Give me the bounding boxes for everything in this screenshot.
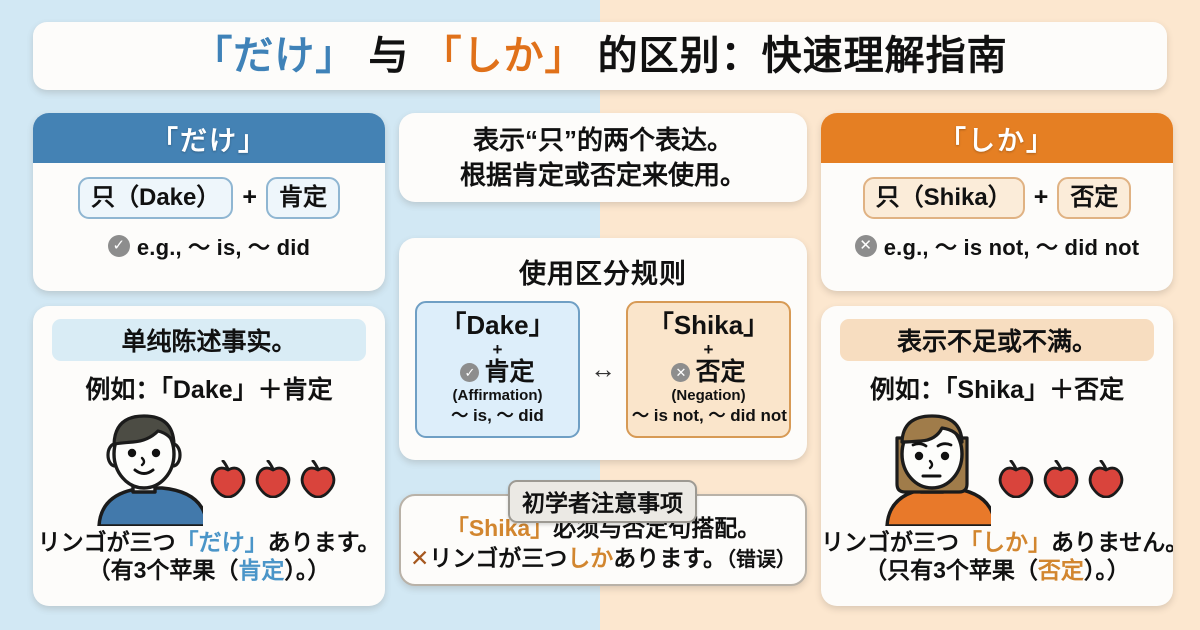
shika-example-heading: 例如：「Shika」＋否定 (821, 370, 1173, 406)
title-card: 「だけ」 与 「しか」 的区别：快速理解指南 (33, 22, 1167, 90)
apple-icon (1042, 460, 1080, 498)
rule-dake-word: 「Dake」 (421, 311, 574, 340)
rule-box-dake: 「Dake」 + ✓ 肯定 (Affirmation) 〜 is, 〜 did (415, 301, 580, 438)
shika-caption2-pre: （只有3个苹果（ (864, 557, 1038, 583)
boy-avatar-icon (85, 408, 203, 531)
apple-icon (254, 460, 292, 498)
title-shika: 「しか」 (422, 34, 586, 78)
shika-formula-row: 只（Shika） + 否定 (821, 177, 1173, 219)
shika-caption-jp: リンゴが三つ「しか」ありません。 (821, 529, 1173, 556)
dake-caption-post: あります。 (268, 529, 381, 555)
dake-caption2-post: ）。） (284, 557, 330, 583)
rule-dake-forms: 〜 is, 〜 did (421, 405, 574, 426)
cross-badge-icon: ✕ (671, 363, 690, 382)
dake-caption2-pre: （有3个苹果（ (88, 557, 239, 583)
dake-example-heading: 例如：「Dake」＋肯定 (33, 370, 385, 406)
shika-example-forms-row: ✕ e.g., 〜 is not, 〜 did not (821, 230, 1173, 262)
shika-header: 「しか」 (821, 113, 1173, 163)
rule-dake-polarity-en: (Affirmation) (421, 387, 574, 406)
dake-caption2-highlight: 肯定 (238, 557, 284, 583)
dake-word-pill: 只（Dake） (78, 177, 233, 219)
dake-caption-highlight: 「だけ」 (176, 529, 268, 555)
shika-caption-pre: リンゴが三つ (821, 529, 959, 555)
intro-card: 表示“只”的两个表达。 根据肯定或否定来使用。 (399, 113, 807, 202)
rule-title: 使用区分规则 (399, 252, 807, 291)
shika-polarity-pill: 否定 (1057, 177, 1131, 219)
rule-shika-polarity-en: (Negation) (632, 387, 785, 406)
dake-example-forms: e.g., 〜 is, 〜 did (137, 230, 310, 262)
dake-caption-pre: リンゴが三つ (38, 529, 176, 555)
apple-group-three (997, 460, 1125, 498)
shika-caption-zh: （只有3个苹果（否定）。） (821, 557, 1173, 584)
notice-line-2-post: あります。 (613, 545, 726, 571)
rule-shika-word: 「Shika」 (632, 311, 785, 340)
dake-header: 「だけ」 (33, 113, 385, 163)
notice-line-2: ✕リンゴが三つしかあります。（错误） (401, 544, 805, 574)
shika-usage-chip: 表示不足或不满。 (840, 319, 1154, 361)
girl-avatar-icon (873, 408, 991, 531)
bidirectional-arrow-icon: ↔ (590, 354, 616, 385)
title-dake: 「だけ」 (192, 34, 356, 78)
infographic-root: 「だけ」 与 「しか」 的区别：快速理解指南 「だけ」 只（Dake） + 肯定… (0, 0, 1200, 630)
title-conjunction: 与 (356, 34, 421, 78)
rule-card: 使用区分规则 「Dake」 + ✓ 肯定 (Affirmation) 〜 is,… (399, 238, 807, 460)
apple-icon (997, 460, 1035, 498)
rule-dake-polarity-row: ✓ 肯定 (421, 359, 574, 387)
dake-example-forms-row: ✓ e.g., 〜 is, 〜 did (33, 230, 385, 262)
shika-caption2-post: ）。） (1084, 557, 1130, 583)
rule-comparison: 「Dake」 + ✓ 肯定 (Affirmation) 〜 is, 〜 did … (399, 301, 807, 438)
check-badge-icon: ✓ (108, 235, 130, 257)
shika-plus-sign: + (1034, 183, 1049, 212)
shika-example-forms: e.g., 〜 is not, 〜 did not (884, 230, 1140, 262)
apple-group-three (209, 460, 337, 498)
shika-example-card: 表示不足或不满。 例如：「Shika」＋否定 (821, 306, 1173, 606)
rule-shika-forms: 〜 is not, 〜 did not (632, 405, 785, 426)
dake-caption-jp: リンゴが三つ「だけ」あります。 (33, 529, 385, 556)
beginner-notice-tab: 初学者注意事项 (508, 480, 697, 523)
intro-line-2: 根据肯定或否定来使用。 (460, 158, 746, 192)
notice-line-2-pre: リンゴが三つ (429, 545, 567, 571)
dake-plus-sign: + (242, 183, 257, 212)
dake-illustration-row (33, 408, 385, 528)
apple-icon (209, 460, 247, 498)
cross-badge-icon: ✕ (855, 235, 877, 257)
shika-definition-card: 「しか」 只（Shika） + 否定 ✕ e.g., 〜 is not, 〜 d… (821, 113, 1173, 291)
shika-word-pill: 只（Shika） (863, 177, 1025, 219)
dake-usage-chip: 单纯陈述事实。 (52, 319, 366, 361)
shika-caption-highlight: 「しか」 (959, 529, 1051, 555)
rule-dake-plus: + (421, 340, 574, 360)
notice-line-2-highlight: しか (567, 545, 613, 571)
rule-shika-polarity: 否定 (695, 359, 745, 387)
intro-line-1: 表示“只”的两个表达。 (473, 123, 733, 157)
dake-polarity-pill: 肯定 (266, 177, 340, 219)
shika-caption2-highlight: 否定 (1038, 557, 1084, 583)
rule-shika-polarity-row: ✕ 否定 (632, 359, 785, 387)
dake-caption-zh: （有3个苹果（肯定）。） (33, 557, 385, 584)
page-title: 「だけ」 与 「しか」 的区别：快速理解指南 (192, 36, 1007, 76)
notice-error-tag: （错误） (726, 549, 796, 571)
dake-example-card: 单纯陈述事实。 例如：「Dake」＋肯定 (33, 306, 385, 606)
rule-dake-polarity: 肯定 (484, 359, 534, 387)
x-cross-icon: ✕ (410, 545, 429, 571)
shika-caption-post: ありません。 (1051, 529, 1173, 555)
rule-shika-plus: + (632, 340, 785, 360)
rule-box-shika: 「Shika」 + ✕ 否定 (Negation) 〜 is not, 〜 di… (626, 301, 791, 438)
dake-definition-card: 「だけ」 只（Dake） + 肯定 ✓ e.g., 〜 is, 〜 did (33, 113, 385, 291)
shika-illustration-row (821, 408, 1173, 528)
title-tail: 的区别：快速理解指南 (586, 34, 1008, 78)
check-badge-icon: ✓ (460, 363, 479, 382)
dake-formula-row: 只（Dake） + 肯定 (33, 177, 385, 219)
apple-icon (299, 460, 337, 498)
apple-icon (1087, 460, 1125, 498)
